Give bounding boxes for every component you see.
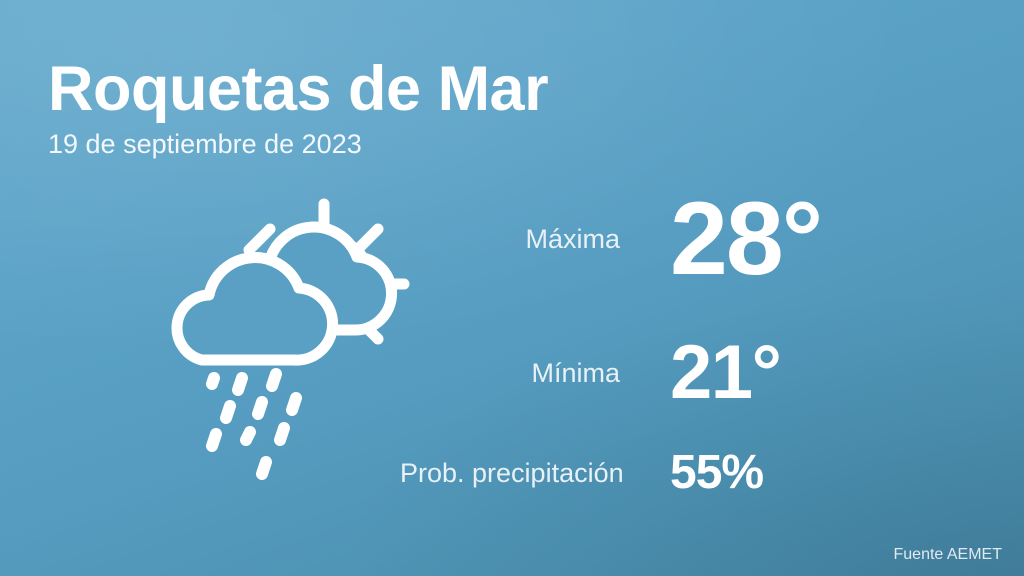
source-attribution: Fuente AEMET: [894, 546, 1003, 564]
reading-row-prob-precipitacion: Prob. precipitación 55%: [400, 438, 980, 508]
readings-list: Máxima 28° Mínima 21° Prob. precipitació…: [400, 170, 980, 508]
reading-label-prob-precipitacion: Prob. precipitación: [400, 458, 670, 489]
rain-drops-icon: [212, 374, 296, 474]
weather-card: Roquetas de Mar 19 de septiembre de 2023: [0, 0, 1024, 576]
card-header: Roquetas de Mar 19 de septiembre de 2023: [48, 58, 548, 158]
page-title: Roquetas de Mar: [48, 58, 548, 121]
reading-label-maxima: Máxima: [400, 224, 670, 255]
reading-row-minima: Mínima 21°: [400, 308, 980, 438]
reading-row-maxima: Máxima 28°: [400, 170, 980, 308]
reading-value-prob-precipitacion: 55%: [670, 449, 763, 497]
reading-label-minima: Mínima: [400, 358, 670, 389]
reading-value-maxima: 28°: [670, 187, 821, 291]
reading-value-minima: 21°: [670, 335, 780, 411]
forecast-date: 19 de septiembre de 2023: [48, 121, 548, 158]
